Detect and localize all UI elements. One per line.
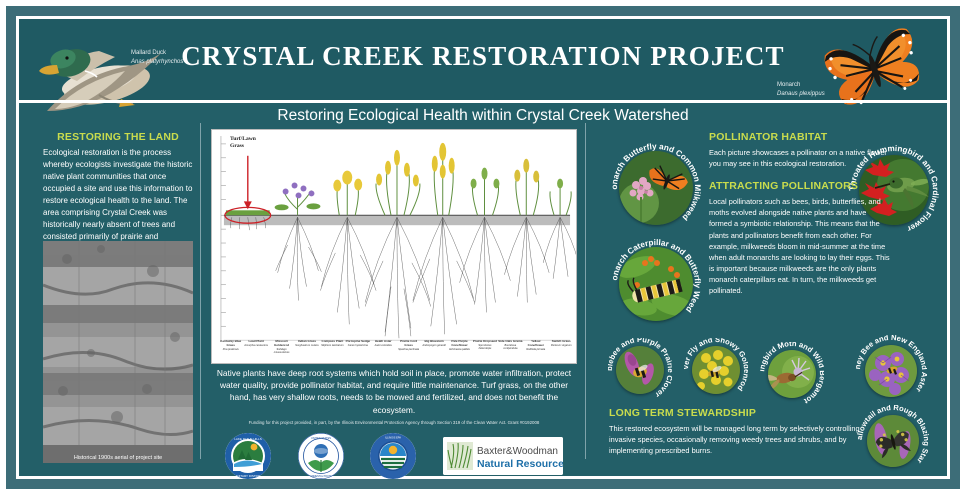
honey-bee-new-england-aster-photo	[865, 345, 917, 397]
plant-name-label: Porcupine SedgeCarex hystericina	[345, 340, 370, 362]
plant-name-label: Lead PlantAmorpha canescens	[243, 340, 268, 362]
plant-name-label: Big BluestemAndropogon gerardii	[421, 340, 446, 362]
plant-name-label: Heath AsterAster ericoides	[371, 340, 396, 362]
pollinator-habitat-body: Each picture showcases a pollinator on a…	[709, 147, 891, 169]
restoring-the-land-body: Ecological restoration is the process wh…	[43, 147, 193, 255]
bumblebee-purple-prairie-clover-photo	[616, 346, 664, 394]
poster-subtitle: Restoring Ecological Health within Cryst…	[19, 107, 947, 125]
root-diagram-image	[212, 130, 576, 363]
turf-label-line1: Turf/Lawn	[230, 136, 256, 142]
plant-name-labels: Kentucky Blue GrassPoa pratensisLead Pla…	[218, 340, 574, 362]
us-epa-logo: UNITED STATES ENVIRONMENTAL PROTECTION	[298, 433, 344, 479]
baxter-woodman-logo-image: Baxter&Woodman Natural Resources	[443, 437, 563, 475]
column-divider-right	[585, 123, 586, 459]
attracting-pollinators-body: Local pollinators such as bees, birds, b…	[709, 196, 891, 296]
attracting-pollinators-section: ATTRACTING POLLINATORS Local pollinators…	[709, 180, 891, 296]
svg-text:ILLINOIS EPA: ILLINOIS EPA	[385, 437, 401, 440]
poster-root: Mallard Duck Anas platyrhynchos	[0, 0, 966, 495]
lake-in-the-hills-sanitary-district-logo: LAKE IN THE HILLS SANITARY DISTRICT	[225, 433, 271, 479]
us-epa-logo-image: UNITED STATES ENVIRONMENTAL PROTECTION	[298, 433, 344, 479]
funding-note: Funding for this project provided, in pa…	[211, 420, 577, 425]
monarch-caterpillar-butterfly-weed-photo	[619, 247, 693, 321]
monarch-common-name: Monarch	[777, 82, 800, 88]
right-text-column: POLLINATOR HABITAT Each picture showcase…	[709, 131, 891, 296]
plant-name-label: Prairie DropseedSporobolus heterolepis	[472, 340, 497, 362]
svg-text:UNITED STATES: UNITED STATES	[311, 436, 331, 440]
plant-name-label: Yellow ConeflowerRatibida pinnata	[523, 340, 548, 362]
long-term-stewardship-body: This restored ecosystem will be managed …	[609, 423, 877, 456]
svg-text:Baxter&Woodman: Baxter&Woodman	[477, 446, 558, 457]
restoring-the-land-section: RESTORING THE LAND Ecological restoratio…	[43, 131, 193, 255]
poster-frame: Mallard Duck Anas platyrhynchos	[16, 16, 950, 479]
plant-name-label: Prairie Cord GrassSpartina pectinata	[396, 340, 421, 362]
svg-text:ENVIRONMENTAL PROTECTION: ENVIRONMENTAL PROTECTION	[302, 475, 339, 478]
plant-name-label: Missouri GoldenrodSolidago missouriensis	[269, 340, 294, 362]
turf-label-line2: Grass	[230, 143, 244, 149]
monarch-butterfly-milkweed-photo	[619, 151, 693, 225]
aerial-photo-caption: Historical 1900s aerial of project site	[43, 455, 193, 461]
svg-text:SANITARY DISTRICT: SANITARY DISTRICT	[233, 474, 263, 478]
hummingbird-moth-bergamot-image	[768, 350, 816, 398]
poster-header: Mallard Duck Anas platyrhynchos	[19, 19, 947, 100]
hummingbird-moth-wild-bergamot-photo	[768, 350, 816, 398]
historical-aerial-photo: Historical 1900s aerial of project site	[43, 241, 193, 463]
plant-name-label: Switch GrassPanicum virgatum	[548, 340, 573, 362]
root-depth-diagram: Turf/Lawn Grass Kentucky Blue GrassPoa p…	[211, 129, 577, 364]
lake-in-the-hills-logo-image: LAKE IN THE HILLS SANITARY DISTRICT	[225, 433, 271, 479]
long-term-stewardship-section: LONG TERM STEWARDSHIP This restored ecos…	[609, 407, 877, 456]
illinois-epa-logo: ILLINOIS EPA	[370, 433, 416, 479]
long-term-stewardship-heading: LONG TERM STEWARDSHIP	[609, 407, 877, 419]
baxter-woodman-logo: Baxter&Woodman Natural Resources	[443, 437, 563, 475]
monarch-caption: Monarch Danaus plexippus	[777, 81, 825, 98]
pollinator-habitat-section: POLLINATOR HABITAT Each picture showcase…	[709, 131, 891, 169]
monarch-caterpillar-image	[619, 247, 693, 321]
plant-name-label: Kentucky Blue GrassPoa pratensis	[218, 340, 243, 362]
monarch-scientific-name: Danaus plexippus	[777, 91, 825, 97]
plant-name-label: Side Oats GramaBouteloua curtipendula	[498, 340, 523, 362]
monarch-butterfly-milkweed-image	[619, 151, 693, 225]
root-diagram-section: Turf/Lawn Grass Kentucky Blue GrassPoa p…	[211, 129, 577, 425]
svg-text:Natural Resources: Natural Resources	[477, 458, 563, 470]
plant-name-label: Indian GrassSorghastrum nutans	[294, 340, 319, 362]
restoring-the-land-heading: RESTORING THE LAND	[43, 131, 193, 143]
hover-fly-goldenrod-image	[692, 346, 740, 394]
turf-grass-callout-label: Turf/Lawn Grass	[230, 136, 256, 151]
plant-name-label: Compass PlantSilphium laciniatum	[320, 340, 345, 362]
header-divider	[19, 100, 947, 103]
column-divider-left	[200, 123, 201, 459]
page-title: CRYSTAL CREEK RESTORATION PROJECT	[19, 41, 947, 72]
root-diagram-caption: Native plants have deep root systems whi…	[211, 367, 577, 416]
attracting-pollinators-heading: ATTRACTING POLLINATORS	[709, 180, 891, 192]
plant-name-label: Pale Purple ConeflowerEchinacea pallida	[447, 340, 472, 362]
illinois-epa-logo-image: ILLINOIS EPA	[370, 433, 416, 479]
svg-text:LAKE IN THE HILLS: LAKE IN THE HILLS	[234, 437, 261, 441]
honey-bee-aster-image	[865, 345, 917, 397]
aerial-photo-image	[43, 241, 193, 445]
hover-fly-showy-goldenrod-photo	[692, 346, 740, 394]
section-spacer	[709, 169, 891, 180]
sponsor-logos: LAKE IN THE HILLS SANITARY DISTRICT UNIT…	[211, 427, 577, 485]
bumblebee-clover-image	[616, 346, 664, 394]
pollinator-habitat-heading: POLLINATOR HABITAT	[709, 131, 891, 143]
